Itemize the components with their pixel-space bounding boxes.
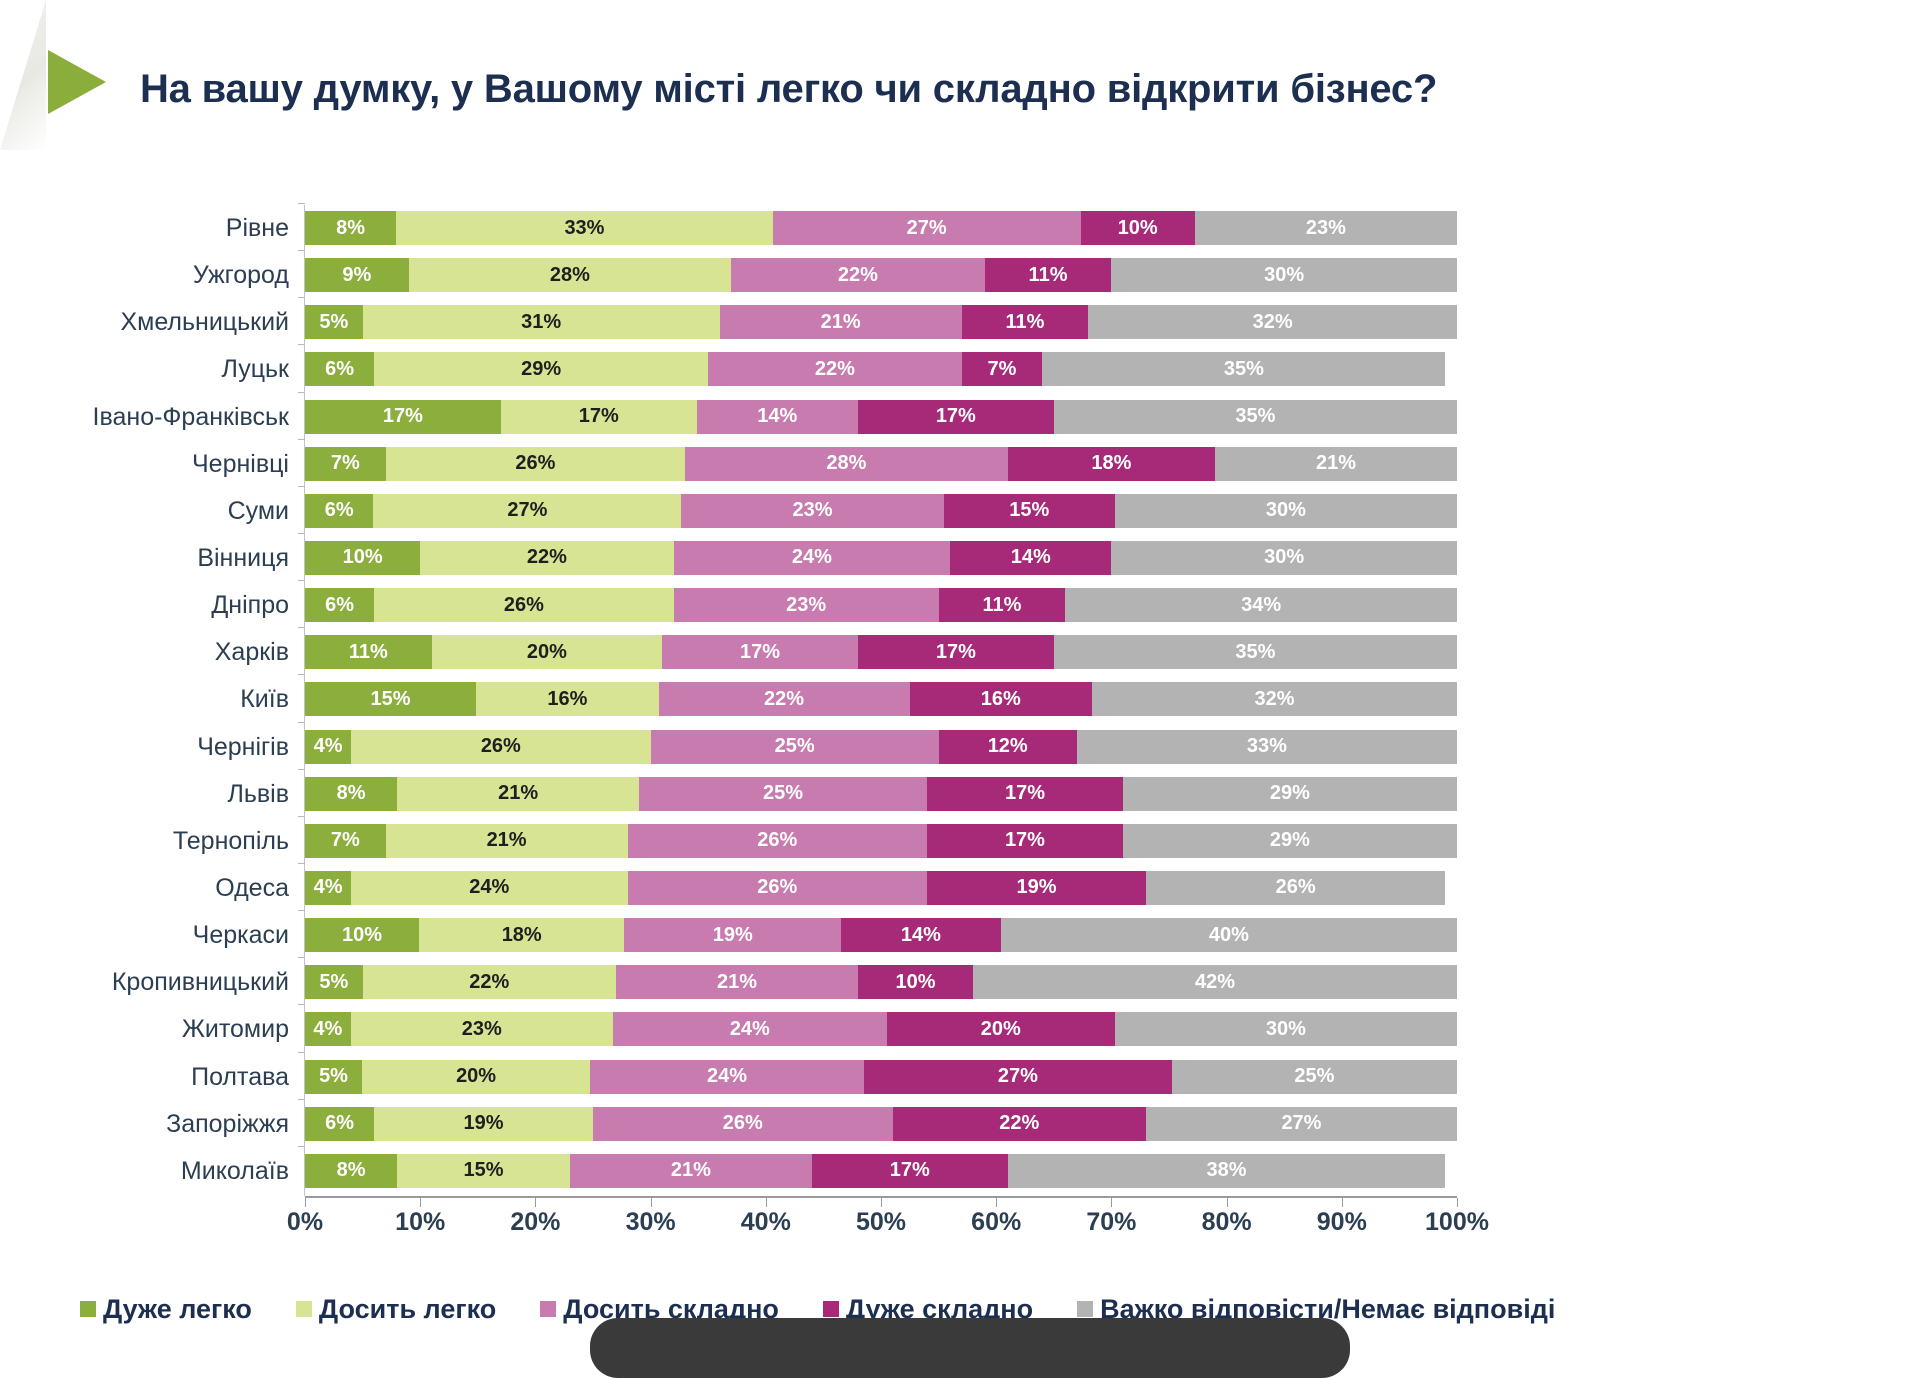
chart-row: Дніпро6%26%23%11%34% <box>305 582 1457 629</box>
x-axis-tick <box>420 1198 421 1207</box>
chart-bar: 4%26%25%12%33% <box>305 730 1457 764</box>
chart-bar: 5%20%24%27%25% <box>305 1060 1457 1094</box>
x-axis-tick <box>1111 1198 1112 1207</box>
y-axis-tick <box>298 392 305 393</box>
x-axis-labels: 0%10%20%30%40%50%60%70%80%90%100% <box>305 1208 1457 1248</box>
chart-bar: 11%20%17%17%35% <box>305 635 1457 669</box>
chart-row-label: Суми <box>65 488 305 535</box>
bar-segment: 17% <box>927 824 1123 858</box>
chart-row: Тернопіль7%21%26%17%29% <box>305 818 1457 865</box>
bar-segment: 26% <box>1146 871 1446 905</box>
x-axis-tick <box>535 1198 536 1207</box>
chart-bar: 9%28%22%11%30% <box>305 258 1457 292</box>
bar-segment: 26% <box>374 588 674 622</box>
bar-segment: 30% <box>1111 541 1457 575</box>
bar-segment: 25% <box>651 730 939 764</box>
chart-row: Миколаїв8%15%21%17%38% <box>305 1148 1457 1195</box>
chart-row-label: Харків <box>65 629 305 676</box>
page-title: На вашу думку, у Вашому місті легко чи с… <box>140 67 1470 113</box>
y-axis-tick <box>298 1146 305 1147</box>
bar-segment: 25% <box>1172 1060 1457 1094</box>
chart-row-label: Кропивницький <box>65 959 305 1006</box>
bar-segment: 29% <box>1123 824 1457 858</box>
bar-segment: 9% <box>305 258 409 292</box>
bar-segment: 6% <box>305 494 373 528</box>
x-axis-tick-label: 70% <box>1086 1208 1136 1237</box>
chart-bar: 6%26%23%11%34% <box>305 588 1457 622</box>
bar-segment: 21% <box>616 965 858 999</box>
bar-segment: 27% <box>773 211 1081 245</box>
bar-segment: 26% <box>351 730 651 764</box>
bar-segment: 4% <box>305 1012 351 1046</box>
bar-segment: 27% <box>864 1060 1172 1094</box>
chart-row-label: Миколаїв <box>65 1148 305 1195</box>
bar-segment: 24% <box>351 871 627 905</box>
x-axis-tick <box>996 1198 997 1207</box>
bar-segment: 33% <box>396 211 772 245</box>
chart-row-label: Львів <box>65 771 305 818</box>
bar-segment: 21% <box>397 777 639 811</box>
y-axis-tick <box>298 1004 305 1005</box>
y-axis-tick <box>298 957 305 958</box>
legend-swatch-icon <box>296 1301 312 1317</box>
chart-row: Чернігів4%26%25%12%33% <box>305 724 1457 771</box>
bar-segment: 17% <box>662 635 858 669</box>
bar-segment: 35% <box>1042 352 1445 386</box>
bar-segment: 26% <box>386 447 686 481</box>
y-axis-tick <box>298 627 305 628</box>
bar-segment: 22% <box>731 258 984 292</box>
chart-row-label: Хмельницький <box>65 299 305 346</box>
y-axis-tick <box>298 533 305 534</box>
bar-segment: 14% <box>841 918 1001 952</box>
chart-row-label: Полтава <box>65 1054 305 1101</box>
bar-segment: 26% <box>593 1107 893 1141</box>
bar-segment: 20% <box>362 1060 590 1094</box>
bar-segment: 24% <box>590 1060 864 1094</box>
bar-segment: 17% <box>812 1154 1008 1188</box>
bar-segment: 18% <box>419 918 624 952</box>
bar-segment: 35% <box>1054 400 1457 434</box>
chart-row-label: Івано-Франківськ <box>65 394 305 441</box>
bar-segment: 23% <box>681 494 943 528</box>
bar-segment: 23% <box>351 1012 613 1046</box>
bar-segment: 20% <box>887 1012 1115 1046</box>
bar-segment: 12% <box>939 730 1077 764</box>
chart-bar: 10%22%24%14%30% <box>305 541 1457 575</box>
bar-segment: 14% <box>950 541 1111 575</box>
bar-segment: 19% <box>374 1107 593 1141</box>
bar-segment: 25% <box>639 777 927 811</box>
chart-row: Вінниця10%22%24%14%30% <box>305 535 1457 582</box>
y-axis-tick <box>298 250 305 251</box>
bar-segment: 11% <box>985 258 1112 292</box>
chart-bar: 6%19%26%22%27% <box>305 1107 1457 1141</box>
chart-row: Житомир4%23%24%20%30% <box>305 1006 1457 1053</box>
bar-segment: 15% <box>397 1154 570 1188</box>
stacked-bar-chart: Рівне8%33%27%10%23%Ужгород9%28%22%11%30%… <box>305 205 1457 1195</box>
bar-segment: 30% <box>1115 1012 1457 1046</box>
chart-row-label: Житомир <box>65 1006 305 1053</box>
bar-segment: 38% <box>1008 1154 1446 1188</box>
bar-segment: 28% <box>409 258 732 292</box>
chart-row: Рівне8%33%27%10%23% <box>305 205 1457 252</box>
bottom-toolbar-widget[interactable] <box>590 1318 1350 1378</box>
bar-segment: 24% <box>674 541 950 575</box>
legend-item[interactable]: Досить легко <box>296 1294 496 1325</box>
y-axis-tick <box>298 297 305 298</box>
bar-segment: 26% <box>628 871 928 905</box>
bar-segment: 5% <box>305 1060 362 1094</box>
x-axis-tick-label: 20% <box>510 1208 560 1237</box>
x-axis-ticks <box>305 1198 1457 1208</box>
chart-bar: 8%15%21%17%38% <box>305 1154 1457 1188</box>
chart-row: Івано-Франківськ17%17%14%17%35% <box>305 394 1457 441</box>
bar-segment: 8% <box>305 777 397 811</box>
chart-row: Одеса4%24%26%19%26% <box>305 865 1457 912</box>
bar-segment: 34% <box>1065 588 1457 622</box>
chart-bar: 4%24%26%19%26% <box>305 871 1457 905</box>
chart-bar: 7%21%26%17%29% <box>305 824 1457 858</box>
bar-segment: 42% <box>973 965 1457 999</box>
bar-segment: 40% <box>1001 918 1457 952</box>
chart-row-label: Запоріжжя <box>65 1101 305 1148</box>
chart-row: Кропивницький5%22%21%10%42% <box>305 959 1457 1006</box>
bar-segment: 15% <box>305 682 476 716</box>
bar-segment: 18% <box>1008 447 1215 481</box>
chart-row-label: Одеса <box>65 865 305 912</box>
green-triangle-icon <box>48 50 106 114</box>
chart-row: Суми6%27%23%15%30% <box>305 488 1457 535</box>
bar-segment: 20% <box>432 635 662 669</box>
y-axis-tick <box>298 344 305 345</box>
bar-segment: 11% <box>305 635 432 669</box>
bar-segment: 7% <box>305 447 386 481</box>
x-axis-tick <box>1457 1198 1458 1207</box>
bar-segment: 23% <box>1195 211 1457 245</box>
chart-bar: 5%31%21%11%32% <box>305 305 1457 339</box>
bar-segment: 22% <box>659 682 910 716</box>
chart-row: Харків11%20%17%17%35% <box>305 629 1457 676</box>
chart-row-label: Дніпро <box>65 582 305 629</box>
x-axis-tick-label: 40% <box>741 1208 791 1237</box>
bar-segment: 14% <box>697 400 858 434</box>
bar-segment: 17% <box>927 777 1123 811</box>
x-axis-tick-label: 100% <box>1425 1208 1489 1237</box>
x-axis-tick <box>881 1198 882 1207</box>
chart-row-label: Вінниця <box>65 535 305 582</box>
bar-segment: 19% <box>927 871 1146 905</box>
bar-segment: 21% <box>720 305 962 339</box>
bar-segment: 24% <box>613 1012 887 1046</box>
x-axis-tick <box>1342 1198 1343 1207</box>
bar-segment: 16% <box>476 682 659 716</box>
legend-swatch-icon <box>80 1301 96 1317</box>
chart-row-label: Черкаси <box>65 912 305 959</box>
y-axis-tick <box>298 722 305 723</box>
y-axis-tick <box>298 674 305 675</box>
chart-row: Хмельницький5%31%21%11%32% <box>305 299 1457 346</box>
bar-segment: 35% <box>1054 635 1457 669</box>
legend-label: Дуже легко <box>103 1294 252 1325</box>
chart-bar: 15%16%22%16%32% <box>305 682 1457 716</box>
bar-segment: 31% <box>363 305 720 339</box>
chart-row-label: Рівне <box>65 205 305 252</box>
bar-segment: 5% <box>305 965 363 999</box>
chart-bar: 7%26%28%18%21% <box>305 447 1457 481</box>
bar-segment: 5% <box>305 305 363 339</box>
legend-swatch-icon <box>540 1301 556 1317</box>
bar-segment: 16% <box>910 682 1093 716</box>
chart-row-label: Тернопіль <box>65 818 305 865</box>
y-axis-tick <box>298 486 305 487</box>
bar-segment: 8% <box>305 1154 397 1188</box>
chart-bar: 8%33%27%10%23% <box>305 211 1457 245</box>
bar-segment: 10% <box>1081 211 1195 245</box>
chart-bar: 5%22%21%10%42% <box>305 965 1457 999</box>
bar-segment: 6% <box>305 352 374 386</box>
bar-segment: 4% <box>305 871 351 905</box>
x-axis-tick-label: 80% <box>1202 1208 1252 1237</box>
bar-segment: 6% <box>305 588 374 622</box>
bar-segment: 27% <box>1146 1107 1457 1141</box>
bar-segment: 33% <box>1077 730 1457 764</box>
chart-bar: 17%17%14%17%35% <box>305 400 1457 434</box>
chart-row: Полтава5%20%24%27%25% <box>305 1054 1457 1101</box>
bar-segment: 11% <box>962 305 1089 339</box>
legend-label: Досить легко <box>319 1294 496 1325</box>
bar-segment: 15% <box>944 494 1115 528</box>
bar-segment: 10% <box>305 541 420 575</box>
x-axis-tick-label: 90% <box>1317 1208 1367 1237</box>
decorative-corner <box>0 0 46 150</box>
legend-swatch-icon <box>1077 1301 1093 1317</box>
bar-segment: 10% <box>858 965 973 999</box>
chart-bar: 8%21%25%17%29% <box>305 777 1457 811</box>
bar-segment: 7% <box>305 824 386 858</box>
bar-segment: 26% <box>628 824 928 858</box>
chart-row: Черкаси10%18%19%14%40% <box>305 912 1457 959</box>
chart-row-label: Луцьк <box>65 346 305 393</box>
chart-row: Луцьк6%29%22%7%35% <box>305 346 1457 393</box>
x-axis-tick <box>305 1198 306 1207</box>
chart-bar: 6%27%23%15%30% <box>305 494 1457 528</box>
bar-segment: 30% <box>1111 258 1457 292</box>
bar-segment: 22% <box>893 1107 1146 1141</box>
y-axis-tick <box>298 863 305 864</box>
bar-segment: 27% <box>373 494 681 528</box>
bar-segment: 32% <box>1088 305 1457 339</box>
y-axis-tick <box>298 1052 305 1053</box>
x-axis-tick-label: 50% <box>856 1208 906 1237</box>
bar-segment: 28% <box>685 447 1008 481</box>
bar-segment: 17% <box>305 400 501 434</box>
bar-segment: 7% <box>962 352 1043 386</box>
y-axis-tick <box>298 910 305 911</box>
chart-bar: 6%29%22%7%35% <box>305 352 1457 386</box>
chart-row: Львів8%21%25%17%29% <box>305 771 1457 818</box>
chart-row-label: Чернівці <box>65 441 305 488</box>
bar-segment: 4% <box>305 730 351 764</box>
bar-segment: 21% <box>570 1154 812 1188</box>
bar-segment: 32% <box>1092 682 1457 716</box>
chart-bar: 4%23%24%20%30% <box>305 1012 1457 1046</box>
chart-row: Київ15%16%22%16%32% <box>305 676 1457 723</box>
x-axis-tick <box>651 1198 652 1207</box>
bar-segment: 6% <box>305 1107 374 1141</box>
chart-row: Ужгород9%28%22%11%30% <box>305 252 1457 299</box>
y-axis-tick <box>298 580 305 581</box>
x-axis-tick <box>1227 1198 1228 1207</box>
bar-segment: 30% <box>1115 494 1457 528</box>
legend-swatch-icon <box>823 1301 839 1317</box>
y-axis-tick <box>298 439 305 440</box>
bar-segment: 19% <box>624 918 841 952</box>
x-axis-tick-label: 30% <box>626 1208 676 1237</box>
bar-segment: 17% <box>501 400 697 434</box>
x-axis-tick-label: 60% <box>971 1208 1021 1237</box>
bar-segment: 8% <box>305 211 396 245</box>
bar-segment: 21% <box>386 824 628 858</box>
chart-bar: 10%18%19%14%40% <box>305 918 1457 952</box>
chart-row: Запоріжжя6%19%26%22%27% <box>305 1101 1457 1148</box>
bar-segment: 17% <box>858 400 1054 434</box>
x-axis-tick <box>766 1198 767 1207</box>
chart-row-label: Чернігів <box>65 724 305 771</box>
bar-segment: 22% <box>420 541 673 575</box>
bar-segment: 23% <box>674 588 939 622</box>
chart-row: Чернівці7%26%28%18%21% <box>305 441 1457 488</box>
bar-segment: 10% <box>305 918 419 952</box>
x-axis-tick-label: 0% <box>287 1208 323 1237</box>
bar-segment: 22% <box>363 965 616 999</box>
y-axis-tick <box>298 1099 305 1100</box>
bar-segment: 11% <box>939 588 1066 622</box>
bar-segment: 29% <box>1123 777 1457 811</box>
bar-segment: 22% <box>708 352 961 386</box>
legend-item[interactable]: Дуже легко <box>80 1294 252 1325</box>
y-axis-tick <box>298 203 305 204</box>
y-axis-tick <box>298 769 305 770</box>
chart-row-label: Київ <box>65 676 305 723</box>
bar-segment: 21% <box>1215 447 1457 481</box>
y-axis-tick <box>298 816 305 817</box>
chart-row-label: Ужгород <box>65 252 305 299</box>
bar-segment: 17% <box>858 635 1054 669</box>
x-axis-tick-label: 10% <box>395 1208 445 1237</box>
bar-segment: 29% <box>374 352 708 386</box>
